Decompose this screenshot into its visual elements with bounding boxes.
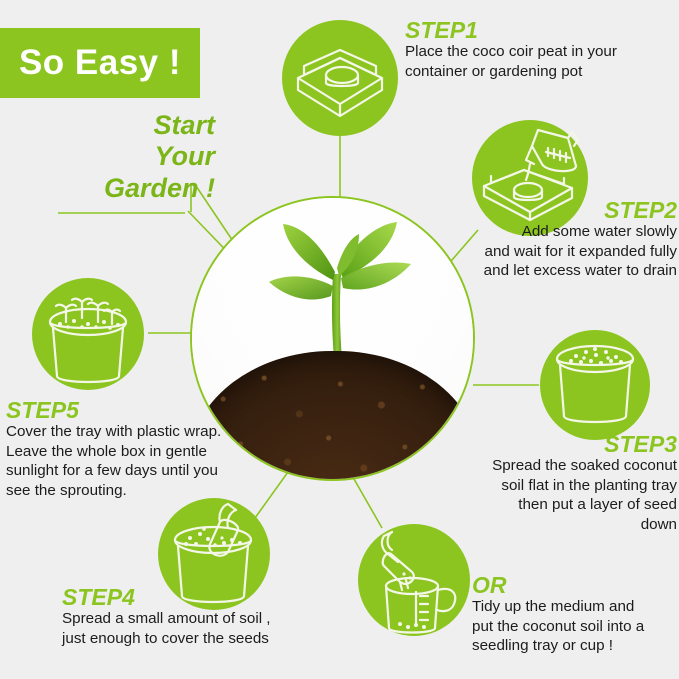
step4-title: STEP4 <box>62 585 327 609</box>
pot-with-sprouts-icon <box>32 278 144 390</box>
infographic-canvas: So Easy ! Start Your Garden ! <box>0 0 679 679</box>
tray-with-coir-disc-icon <box>282 20 398 136</box>
tagline-line-1: Start <box>30 110 215 141</box>
tagline-line-3: Garden ! <box>30 173 215 204</box>
tagline-line-2: Your <box>30 141 215 172</box>
step-text-step3: STEP3 Spread the soaked coconut soil fla… <box>478 432 677 535</box>
tagline: Start Your Garden ! <box>30 110 215 204</box>
step5-title: STEP5 <box>6 398 248 422</box>
headline-banner: So Easy ! <box>0 28 200 98</box>
step-text-step1: STEP1 Place the coco coir peat in your c… <box>405 18 667 81</box>
headline-text: So Easy ! <box>19 43 181 83</box>
bubble-step1 <box>282 20 398 136</box>
step1-body: Place the coco coir peat in your contain… <box>405 42 667 81</box>
or-body: Tidy up the medium and put the coconut s… <box>472 597 677 656</box>
pot-with-seeds-icon <box>540 330 650 440</box>
or-title: OR <box>472 573 677 597</box>
connector-or <box>350 472 382 528</box>
step5-body: Cover the tray with plastic wrap. Leave … <box>6 422 248 500</box>
bubble-step3 <box>540 330 650 440</box>
step3-title: STEP3 <box>478 432 677 456</box>
step-text-step2: STEP2 Add some water slowly and wait for… <box>455 198 677 281</box>
step-text-step4: STEP4 Spread a small amount of soil , ju… <box>62 585 327 648</box>
step2-title: STEP2 <box>455 198 677 222</box>
trowel-into-measuring-cup-icon <box>358 524 470 636</box>
step2-body: Add some water slowly and wait for it ex… <box>455 222 677 281</box>
step-text-or: OR Tidy up the medium and put the coconu… <box>472 573 677 656</box>
step1-title: STEP1 <box>405 18 667 42</box>
bubble-step5 <box>32 278 144 390</box>
step3-body: Spread the soaked coconut soil flat in t… <box>478 456 677 534</box>
step-text-step5: STEP5 Cover the tray with plastic wrap. … <box>6 398 248 501</box>
step4-body: Spread a small amount of soil , just eno… <box>62 609 327 648</box>
bubble-or <box>358 524 470 636</box>
